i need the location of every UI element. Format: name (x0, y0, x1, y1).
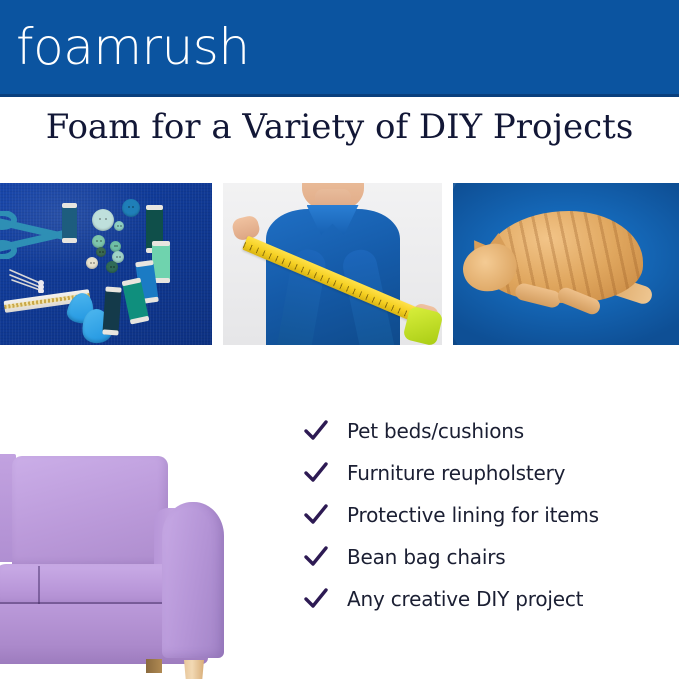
check-icon (303, 460, 329, 486)
thread-spool (62, 203, 77, 243)
sofa-seat-seam (38, 566, 40, 606)
tape-measure-case (402, 305, 442, 345)
sewing-supplies-photo (0, 183, 212, 345)
product-feature-image: foamrush Foam for a Variety of DIY Proje… (0, 0, 679, 679)
tagline-heading: Foam for a Variety of DIY Projects (0, 108, 679, 146)
lavender-sofa-illustration (0, 446, 262, 679)
benefits-list: Pet beds/cushions Furniture reupholstery… (303, 410, 679, 620)
sofa-rolled-arm (162, 502, 224, 658)
sofa-back-cushion (12, 456, 168, 568)
thread-spool (102, 287, 121, 336)
button (86, 257, 98, 269)
benefit-item-pet-beds: Pet beds/cushions (303, 410, 679, 452)
pins-icon (6, 267, 52, 293)
button (96, 247, 106, 257)
button (122, 199, 140, 217)
benefit-item-reupholstery: Furniture reupholstery (303, 452, 679, 494)
benefit-item-bean-bag-chairs: Bean bag chairs (303, 536, 679, 578)
brand-header-bar: foamrush (0, 0, 679, 97)
check-icon (303, 586, 329, 612)
button (92, 209, 114, 231)
benefit-item-any-diy-project: Any creative DIY project (303, 578, 679, 620)
button (114, 221, 124, 231)
button (106, 261, 118, 273)
brand-logo: foamrush (16, 22, 250, 72)
benefit-label: Bean bag chairs (347, 547, 505, 567)
sofa-leg (146, 659, 162, 673)
check-icon (303, 544, 329, 570)
sofa-leg (184, 660, 204, 679)
tape-measure-photo (223, 183, 442, 345)
cat-on-cushion-photo (453, 183, 679, 345)
benefit-label: Pet beds/cushions (347, 421, 524, 441)
check-icon (303, 418, 329, 444)
photo-strip (0, 183, 679, 345)
benefit-label: Protective lining for items (347, 505, 599, 525)
benefit-item-protective-lining: Protective lining for items (303, 494, 679, 536)
check-icon (303, 502, 329, 528)
button (92, 235, 105, 248)
benefit-label: Any creative DIY project (347, 589, 583, 609)
benefit-label: Furniture reupholstery (347, 463, 565, 483)
